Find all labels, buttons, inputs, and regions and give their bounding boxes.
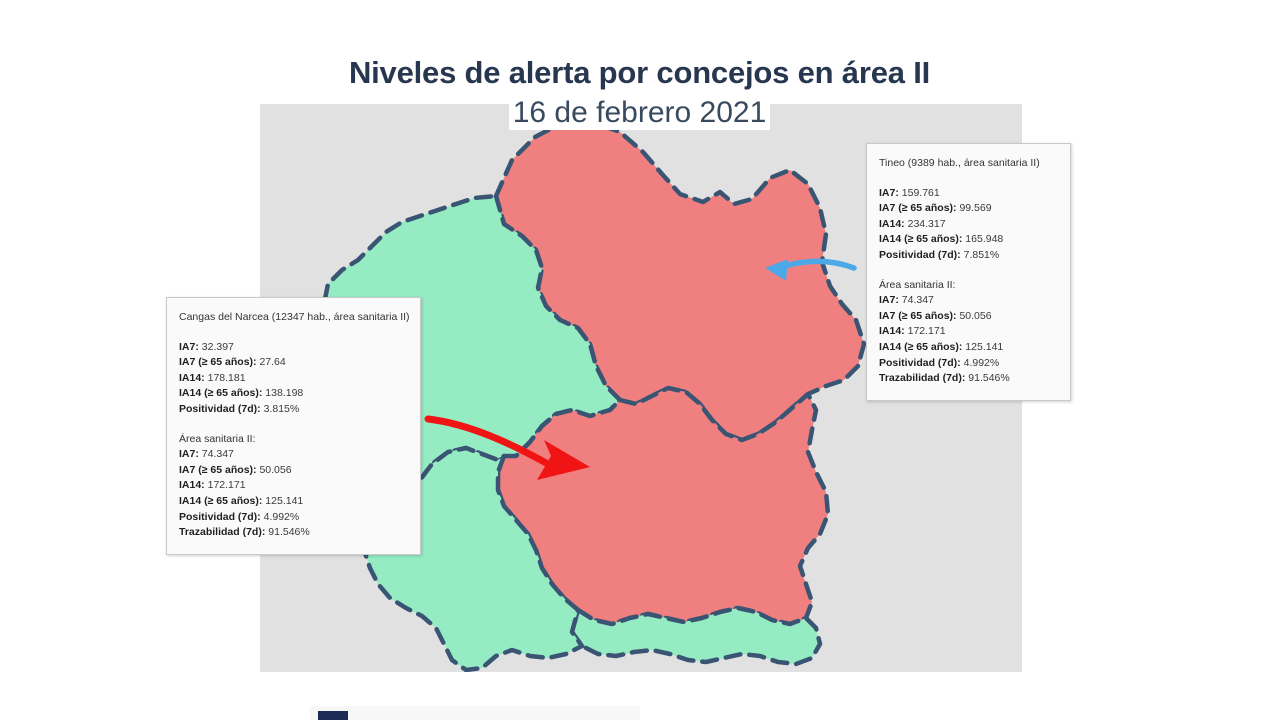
metric-value: 74.347	[202, 448, 234, 460]
area-metric-ia14: IA14: 172.171	[879, 324, 1056, 340]
bottom-partial-chip[interactable]	[318, 711, 348, 720]
metric-value: 50.056	[259, 464, 291, 476]
metric-label: IA14:	[179, 372, 205, 384]
metric-value: 32.397	[202, 341, 234, 353]
metric-ia7-65: IA7 (≥ 65 años): 99.569	[879, 201, 1056, 217]
metric-value: 99.569	[959, 202, 991, 214]
metric-positividad: Positividad (7d): 7.851%	[879, 248, 1056, 264]
metric-value: 172.171	[208, 479, 246, 491]
area-metric-ia14: IA14: 172.171	[179, 478, 406, 494]
metric-value: 74.347	[902, 294, 934, 306]
info-box-tineo-heading: Tineo (9389 hab., área sanitaria II)	[879, 156, 1056, 172]
metric-ia14-65: IA14 (≥ 65 años): 165.948	[879, 232, 1056, 248]
metric-label: IA7 (≥ 65 años):	[179, 464, 257, 476]
area-metric-trazabilidad: Trazabilidad (7d): 91.546%	[179, 525, 406, 541]
metric-positividad: Positividad (7d): 3.815%	[179, 402, 406, 418]
metric-label: IA7:	[879, 294, 899, 306]
metric-ia7-65: IA7 (≥ 65 años): 27.64	[179, 355, 406, 371]
metric-label: IA7 (≥ 65 años):	[879, 202, 957, 214]
metric-label: Positividad (7d):	[179, 403, 261, 415]
metric-ia14-65: IA14 (≥ 65 años): 138.198	[179, 386, 406, 402]
area-metric-trazabilidad: Trazabilidad (7d): 91.546%	[879, 371, 1056, 387]
metric-label: IA14 (≥ 65 años):	[879, 341, 962, 353]
metric-value: 4.992%	[964, 357, 1000, 369]
metric-value: 91.546%	[968, 372, 1009, 384]
area-metric-positividad: Positividad (7d): 4.992%	[879, 356, 1056, 372]
page-title: Niveles de alerta por concejos en área I…	[0, 55, 1279, 91]
metric-label: Positividad (7d):	[879, 249, 961, 261]
metric-ia14: IA14: 234.317	[879, 217, 1056, 233]
info-box-tineo-section-heading: Área sanitaria II:	[879, 278, 1056, 294]
metric-label: IA14 (≥ 65 años):	[179, 387, 262, 399]
metric-value: 4.992%	[264, 511, 300, 523]
area-metric-ia14-65: IA14 (≥ 65 años): 125.141	[879, 340, 1056, 356]
info-box-cangas-section-heading: Área sanitaria II:	[179, 432, 406, 448]
metric-label: IA14 (≥ 65 años):	[879, 233, 962, 245]
metric-label: IA7:	[179, 341, 199, 353]
metric-value: 125.141	[265, 495, 303, 507]
metric-value: 91.546%	[268, 526, 309, 538]
metric-value: 165.948	[965, 233, 1003, 245]
metric-ia14: IA14: 178.181	[179, 371, 406, 387]
metric-value: 7.851%	[964, 249, 1000, 261]
metric-value: 138.198	[265, 387, 303, 399]
bottom-partial-strip	[310, 706, 640, 720]
metric-label: Trazabilidad (7d):	[179, 526, 265, 538]
metric-label: IA7:	[879, 187, 899, 199]
metric-label: IA14:	[179, 479, 205, 491]
metric-value: 3.815%	[264, 403, 300, 415]
metric-ia7: IA7: 32.397	[179, 340, 406, 356]
metric-label: IA14 (≥ 65 años):	[179, 495, 262, 507]
info-box-tineo: Tineo (9389 hab., área sanitaria II) IA7…	[866, 143, 1071, 401]
metric-label: IA14:	[879, 218, 905, 230]
metric-label: IA7 (≥ 65 años):	[179, 356, 257, 368]
area-metric-positividad: Positividad (7d): 4.992%	[179, 510, 406, 526]
metric-label: IA7:	[179, 448, 199, 460]
info-box-cangas-del-narcea: Cangas del Narcea (12347 hab., área sani…	[166, 297, 421, 555]
metric-value: 172.171	[908, 325, 946, 337]
metric-label: IA7 (≥ 65 años):	[879, 310, 957, 322]
metric-label: Positividad (7d):	[179, 511, 261, 523]
area-metric-ia7: IA7: 74.347	[179, 447, 406, 463]
metric-value: 50.056	[959, 310, 991, 322]
metric-value: 178.181	[208, 372, 246, 384]
metric-label: IA14:	[879, 325, 905, 337]
area-metric-ia14-65: IA14 (≥ 65 años): 125.141	[179, 494, 406, 510]
page-subtitle-date-text: 16 de febrero 2021	[509, 95, 771, 130]
metric-label: Positividad (7d):	[879, 357, 961, 369]
metric-value: 27.64	[259, 356, 285, 368]
page-subtitle-date: 16 de febrero 2021	[0, 96, 1279, 130]
metric-ia7: IA7: 159.761	[879, 186, 1056, 202]
area-metric-ia7-65: IA7 (≥ 65 años): 50.056	[179, 463, 406, 479]
metric-value: 125.141	[965, 341, 1003, 353]
metric-label: Trazabilidad (7d):	[879, 372, 965, 384]
metric-value: 234.317	[908, 218, 946, 230]
area-metric-ia7-65: IA7 (≥ 65 años): 50.056	[879, 309, 1056, 325]
area-metric-ia7: IA7: 74.347	[879, 293, 1056, 309]
info-box-cangas-heading: Cangas del Narcea (12347 hab., área sani…	[179, 310, 406, 326]
metric-value: 159.761	[902, 187, 940, 199]
